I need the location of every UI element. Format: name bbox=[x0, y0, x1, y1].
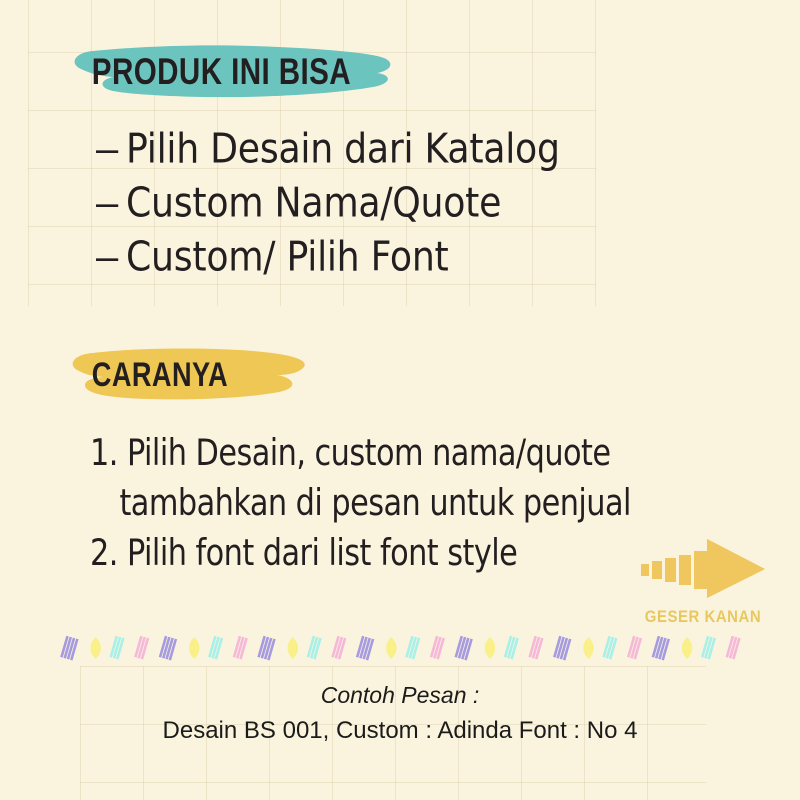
howto-heading-label: CARANYA bbox=[63, 342, 263, 408]
divider-mark bbox=[602, 636, 617, 660]
features-heading: PRODUK INI BISA bbox=[63, 38, 393, 106]
features-heading-label: PRODUK INI BISA bbox=[63, 38, 327, 106]
divider-mark bbox=[553, 636, 571, 661]
divider-mark bbox=[701, 636, 716, 660]
divider-mark bbox=[682, 637, 693, 659]
divider-mark bbox=[134, 636, 149, 660]
howto-heading: CARANYA bbox=[63, 342, 313, 408]
divider-mark bbox=[528, 636, 543, 660]
divider-mark bbox=[331, 636, 346, 660]
divider-mark bbox=[109, 636, 124, 660]
divider-mark bbox=[485, 637, 496, 659]
divider-mark bbox=[257, 636, 275, 661]
divider-mark bbox=[208, 636, 223, 660]
dash-icon: – bbox=[96, 233, 126, 281]
example-message-title: Contoh Pesan : bbox=[0, 680, 800, 710]
divider-mark bbox=[627, 636, 642, 660]
divider-mark bbox=[652, 636, 670, 661]
list-item-label: Custom Nama/Quote bbox=[126, 179, 501, 230]
divider-mark bbox=[288, 637, 299, 659]
step-line: 1. Pilih Desain, custom nama/quote bbox=[90, 426, 697, 481]
step-line: tambahkan di pesan untuk penjual bbox=[90, 476, 697, 531]
divider-mark bbox=[583, 637, 594, 659]
divider-mark bbox=[233, 636, 248, 660]
divider-mark bbox=[189, 637, 200, 659]
divider-mark bbox=[726, 636, 741, 660]
dash-icon: – bbox=[96, 125, 126, 173]
list-item: – Custom Nama/Quote bbox=[96, 179, 716, 227]
divider-mark bbox=[454, 636, 472, 661]
dash-icon: – bbox=[96, 179, 126, 227]
divider-mark bbox=[430, 636, 445, 660]
promo-card: PRODUK INI BISA – Pilih Desain dari Kata… bbox=[0, 0, 800, 800]
list-item: – Custom/ Pilih Font bbox=[96, 233, 716, 281]
divider-mark bbox=[504, 636, 519, 660]
divider-mark bbox=[60, 636, 78, 661]
divider-mark bbox=[356, 636, 374, 661]
divider-mark bbox=[307, 636, 322, 660]
list-item-label: Custom/ Pilih Font bbox=[126, 233, 448, 284]
divider-mark bbox=[386, 637, 397, 659]
list-item-label: Pilih Desain dari Katalog bbox=[126, 125, 560, 176]
step-line: 2. Pilih font dari list font style bbox=[90, 526, 697, 581]
example-message: Contoh Pesan : Desain BS 001, Custom : A… bbox=[0, 680, 800, 748]
arrow-right-icon bbox=[641, 537, 769, 599]
features-list: – Pilih Desain dari Katalog – Custom Nam… bbox=[96, 125, 716, 287]
swipe-hint-label: GESER KANAN bbox=[641, 607, 764, 627]
example-message-body: Desain BS 001, Custom : Adinda Font : No… bbox=[0, 714, 800, 748]
list-item: – Pilih Desain dari Katalog bbox=[96, 125, 716, 173]
pastel-divider bbox=[60, 634, 750, 664]
divider-mark bbox=[159, 636, 177, 661]
divider-mark bbox=[405, 636, 420, 660]
divider-mark bbox=[90, 637, 101, 659]
